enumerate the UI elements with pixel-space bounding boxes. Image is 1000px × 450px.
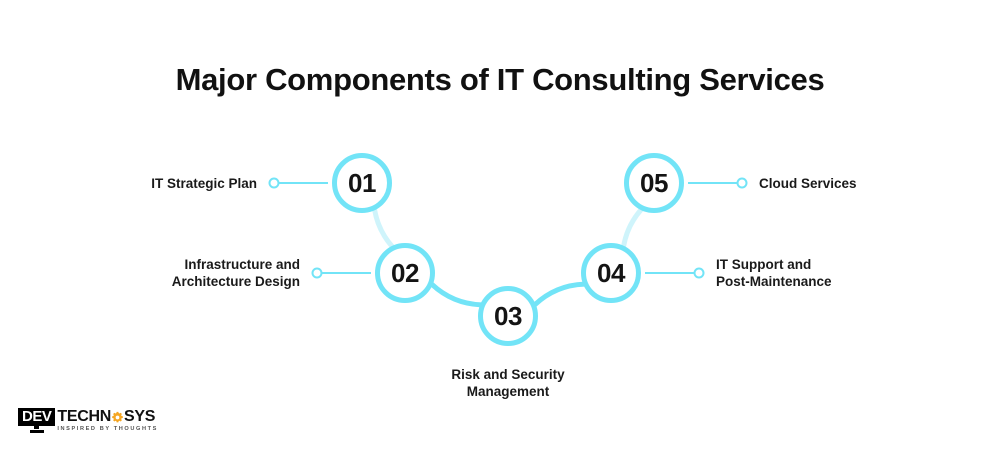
node-number-02: 02 [391, 258, 419, 288]
label-05: Cloud Services [759, 175, 857, 192]
logo-wordmark-block: TECHN SYS INSPIRED BY THOUGHTS [57, 408, 158, 432]
leader-dot-04 [695, 269, 704, 278]
label-02: Infrastructure and Architecture Design [172, 256, 300, 290]
logo-wordmark-before: TECHN [57, 408, 111, 425]
node-02[interactable]: 02 [378, 246, 433, 301]
curve-03-to-04 [535, 284, 584, 305]
node-number-03: 03 [494, 301, 522, 331]
curve-01-to-02 [375, 209, 393, 247]
node-05[interactable]: 05 [627, 156, 682, 211]
logo-tagline: INSPIRED BY THOUGHTS [57, 426, 158, 432]
label-04: IT Support and Post-Maintenance [716, 256, 832, 290]
curve-04-to-05 [624, 209, 642, 247]
logo-dev-text: DEV [18, 408, 55, 426]
gear-icon [111, 411, 124, 424]
logo-monitor-mark: DEV [18, 408, 55, 433]
label-01: IT Strategic Plan [151, 175, 257, 192]
logo-monitor-base [30, 430, 44, 433]
node-number-04: 04 [597, 258, 626, 288]
node-number-01: 01 [348, 168, 376, 198]
logo-monitor-neck [34, 426, 39, 429]
node-04[interactable]: 04 [584, 246, 639, 301]
label-03: Risk and Security Management [358, 366, 658, 400]
infographic-page: Major Components of IT Consulting Servic… [0, 0, 1000, 450]
logo-wordmark: TECHN SYS [57, 408, 158, 425]
node-01[interactable]: 01 [335, 156, 390, 211]
brand-logo: DEV TECHN SYS INSPIRED BY THOUGHTS [18, 408, 158, 440]
leader-dot-02 [313, 269, 322, 278]
curve-02-to-03 [432, 284, 481, 305]
node-03[interactable]: 03 [481, 289, 536, 344]
node-number-05: 05 [640, 168, 668, 198]
leader-dot-05 [738, 179, 747, 188]
leader-dot-01 [270, 179, 279, 188]
logo-wordmark-after: SYS [124, 408, 155, 425]
node-group: 0102030405 [335, 156, 682, 344]
